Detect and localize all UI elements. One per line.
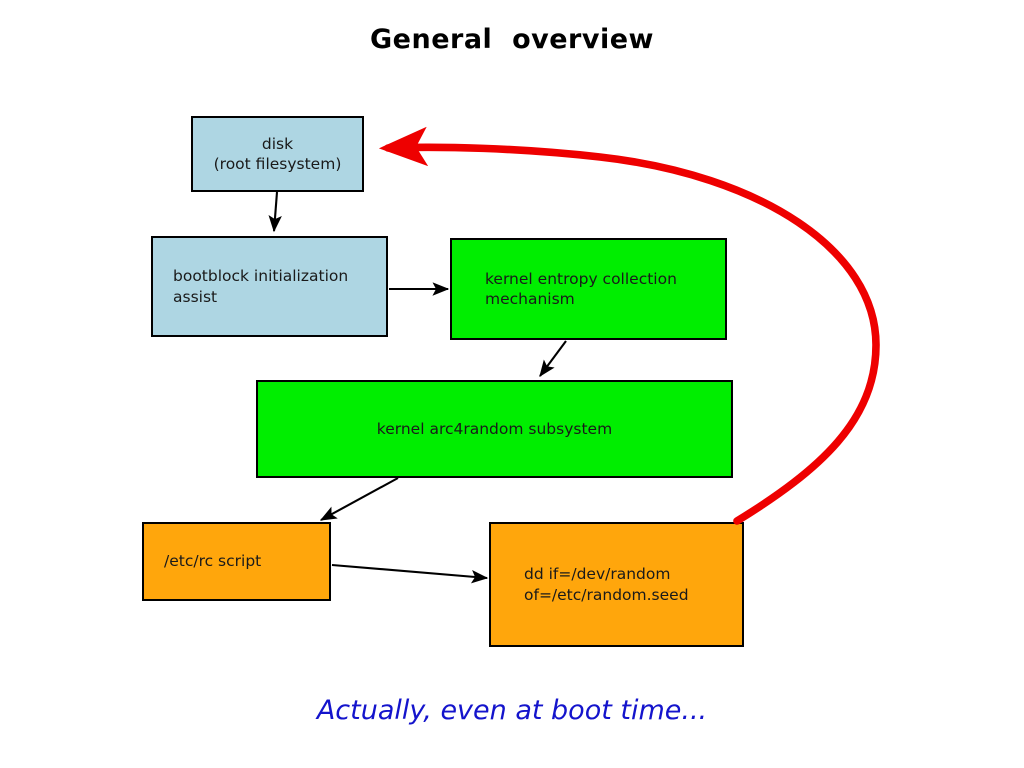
node-rc-script-label: /etc/rc script: [164, 551, 321, 571]
node-kernel-arc4random-subsystem[interactable]: kernel arc4random subsystem: [256, 380, 733, 478]
node-disk-label: disk (root filesystem): [193, 134, 362, 175]
edge-rc-script-to-dd-command: [332, 565, 487, 578]
node-disk[interactable]: disk (root filesystem): [191, 116, 364, 192]
edge-disk-to-bootblock: [274, 192, 277, 231]
node-dd-command[interactable]: dd if=/dev/random of=/etc/random.seed: [489, 522, 744, 647]
node-kernel-entropy-collection-mechanism[interactable]: kernel entropy collection mechanism: [450, 238, 727, 340]
slide-caption: Actually, even at boot time...: [0, 695, 1024, 726]
node-arc4random-label: kernel arc4random subsystem: [258, 419, 731, 439]
node-bootblock-label: bootblock initialization assist: [173, 266, 378, 307]
edge-entropy-to-arc4random: [540, 341, 566, 376]
node-bootblock-initialization-assist[interactable]: bootblock initialization assist: [151, 236, 388, 337]
slide-canvas: General overview disk (root filesystem) …: [0, 0, 1024, 768]
slide-title: General overview: [0, 24, 1024, 55]
node-dd-command-label: dd if=/dev/random of=/etc/random.seed: [524, 564, 734, 605]
node-etc-rc-script[interactable]: /etc/rc script: [142, 522, 331, 601]
node-entropy-label: kernel entropy collection mechanism: [485, 269, 717, 310]
edge-arc4random-to-rc-script: [321, 478, 398, 520]
